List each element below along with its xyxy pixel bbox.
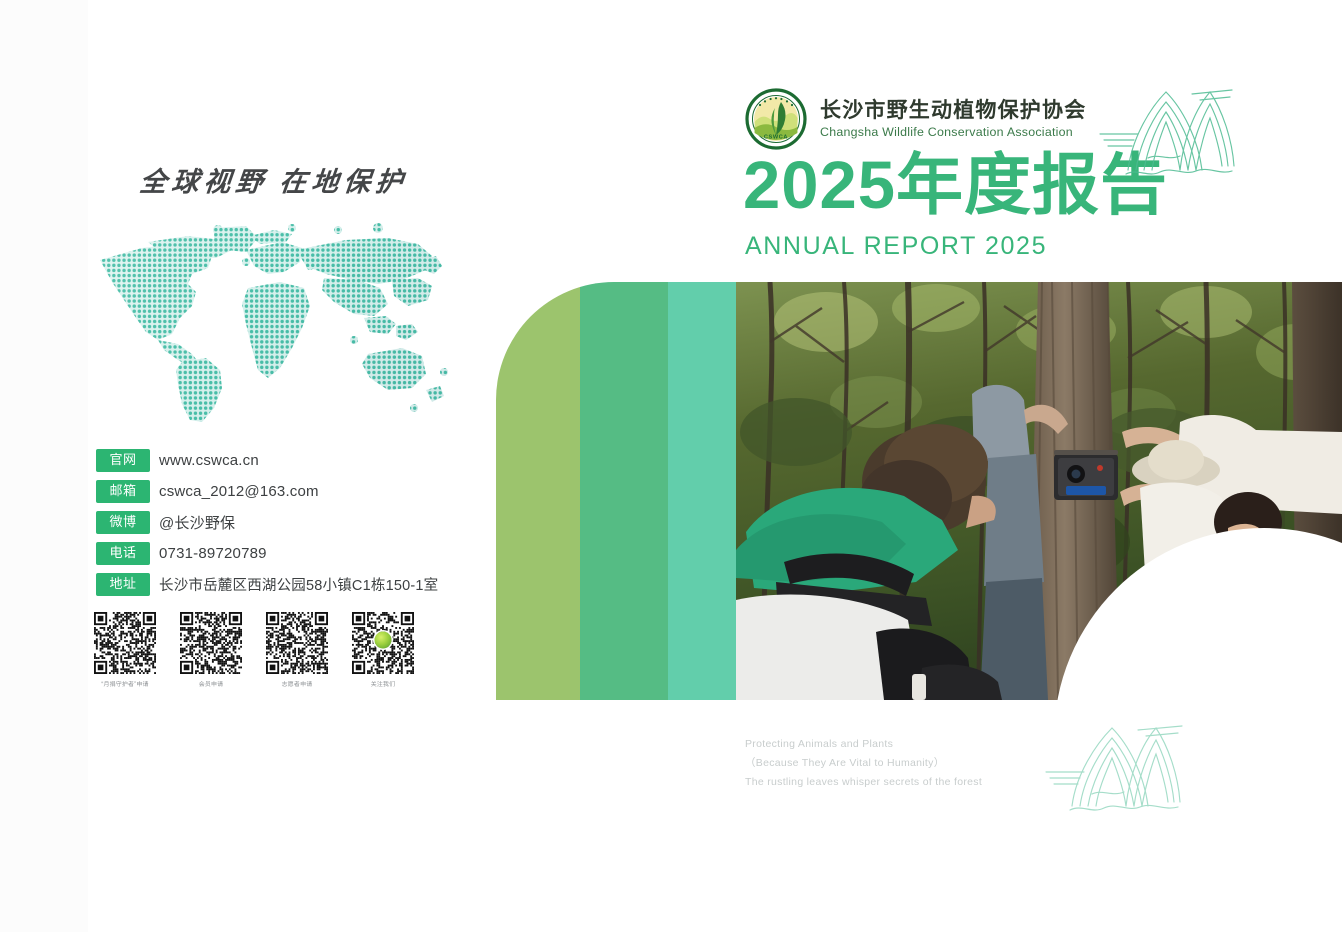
contact-value-address: 长沙市岳麓区西湖公园58小镇C1栋150-1室 xyxy=(159,574,438,595)
qr-code-icon[interactable] xyxy=(266,612,328,674)
contact-value-website[interactable]: www.cswca.cn xyxy=(159,452,259,469)
contact-tag: 邮箱 xyxy=(96,480,150,503)
svg-text:CSWCA: CSWCA xyxy=(764,135,788,141)
back-cover-tagline: 全球视野 在地保护 xyxy=(138,160,472,199)
qr-item-monthly-donor[interactable]: “月捐守护者”申请 xyxy=(94,612,156,688)
contact-list: 官网 www.cswca.cn 邮箱 cswca_2012@163.com 微博… xyxy=(96,448,496,603)
qr-code-strip: “月捐守护者”申请 会员申请 志愿者申请 关注我们 xyxy=(94,612,494,688)
contact-tag: 电话 xyxy=(96,542,150,565)
footer-line-1: Protecting Animals and Plants xyxy=(745,735,982,754)
qr-caption: 会员申请 xyxy=(181,679,241,688)
contact-row-website: 官网 www.cswca.cn xyxy=(96,448,496,472)
cover-footer-lines: Protecting Animals and Plants （Because T… xyxy=(745,735,982,792)
qr-item-volunteer[interactable]: 志愿者申请 xyxy=(266,612,328,688)
footer-line-3: The rustling leaves whisper secrets of t… xyxy=(745,773,982,792)
color-band-green xyxy=(580,282,668,700)
contact-tag: 地址 xyxy=(96,573,150,596)
qr-caption: 志愿者申请 xyxy=(267,679,327,688)
mountain-ornament-top-icon xyxy=(1092,74,1242,179)
mountain-ornament-bottom-icon xyxy=(1042,712,1214,817)
qr-code-icon[interactable] xyxy=(94,612,156,674)
organization-name-en: Changsha Wildlife Conservation Associati… xyxy=(820,125,1086,139)
contact-tag: 微博 xyxy=(96,511,150,534)
contact-value-email[interactable]: cswca_2012@163.com xyxy=(159,483,319,500)
report-title-en: ANNUAL REPORT 2025 xyxy=(745,232,1047,261)
hero-clip xyxy=(496,282,1342,700)
qr-caption: 关注我们 xyxy=(353,679,413,688)
contact-tag: 官网 xyxy=(96,449,150,472)
contact-value-weibo[interactable]: @长沙野保 xyxy=(159,512,235,533)
association-logo-icon: CSWCA xyxy=(745,88,807,150)
qr-item-follow-us[interactable]: 关注我们 xyxy=(352,612,414,688)
cover-spread: 全球视野 在地保护 xyxy=(0,0,1342,932)
contact-row-address: 地址 长沙市岳麓区西湖公园58小镇C1栋150-1室 xyxy=(96,572,496,596)
qr-code-icon[interactable] xyxy=(180,612,242,674)
qr-item-membership[interactable]: 会员申请 xyxy=(180,612,242,688)
hero-block xyxy=(496,282,1342,700)
world-map-graphic xyxy=(96,222,456,427)
organization-name-cn: 长沙市野生动植物保护协会 xyxy=(820,99,1086,124)
back-cover-page: 全球视野 在地保护 xyxy=(88,0,500,932)
organization-brand-row: CSWCA 长沙市野生动植物保护协会 Changsha Wildlife Con… xyxy=(745,88,1086,150)
contact-row-phone: 电话 0731-89720789 xyxy=(96,541,496,565)
contact-row-weibo: 微博 @长沙野保 xyxy=(96,510,496,534)
color-band-mint xyxy=(668,282,736,700)
qr-caption: “月捐守护者”申请 xyxy=(95,679,155,688)
qr-code-icon[interactable] xyxy=(352,612,414,674)
contact-row-email: 邮箱 cswca_2012@163.com xyxy=(96,479,496,503)
color-band-olive xyxy=(496,282,580,700)
organization-name-block: 长沙市野生动植物保护协会 Changsha Wildlife Conservat… xyxy=(820,99,1086,140)
wechat-badge-icon xyxy=(375,631,392,648)
contact-value-phone[interactable]: 0731-89720789 xyxy=(159,545,267,562)
footer-line-2: （Because They Are Vital to Humanity） xyxy=(745,754,982,773)
